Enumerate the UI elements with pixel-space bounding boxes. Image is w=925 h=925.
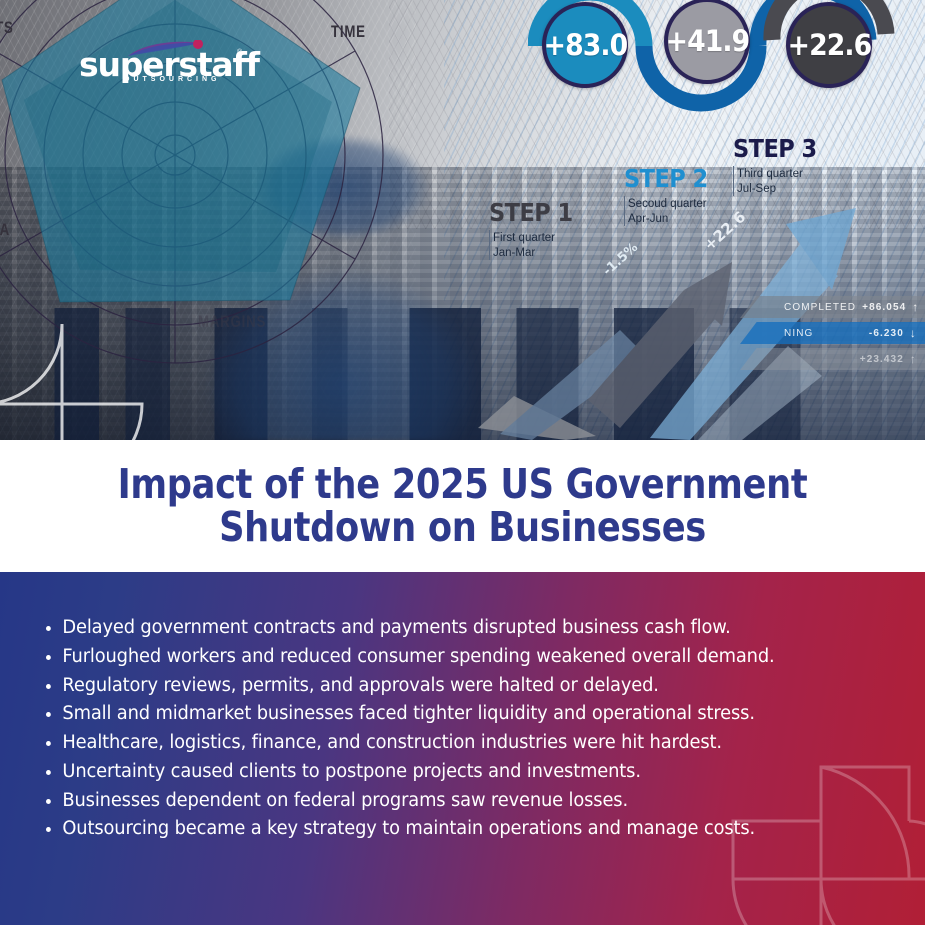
bullet-list: Delayed government contracts and payment… — [0, 572, 925, 843]
corner-arc-motif-icon — [0, 316, 172, 440]
list-item: Businesses dependent on federal programs… — [46, 787, 836, 815]
step-callout-3: STEP 3 Third quarter Jul-Sep — [733, 136, 826, 196]
bullet-band: Delayed government contracts and payment… — [0, 572, 925, 925]
hero-banner: BACKGROUND TIME MARGINS DATA COSTS super… — [0, 0, 925, 440]
bullet-dot-icon — [46, 770, 51, 775]
bullet-dot-icon — [46, 626, 51, 631]
kpi-value-3: +22.6 — [787, 28, 871, 62]
step-quarter-2: Secoud quarter — [628, 197, 717, 212]
list-item: Small and midmarket businesses faced tig… — [46, 700, 836, 728]
bullet-dot-icon — [46, 684, 51, 689]
step-subtitle-2: Secoud quarter Apr-Jun — [624, 196, 717, 226]
radar-axis-label-time: TIME — [331, 22, 366, 42]
step-callout-1: STEP 1 First quarter Jan-Mar — [489, 200, 582, 260]
infographic-poster: BACKGROUND TIME MARGINS DATA COSTS super… — [0, 0, 925, 925]
data-row-label-2: NING — [784, 328, 863, 339]
arrow-up-icon: ↑ — [910, 352, 917, 366]
list-item: Outsourcing became a key strategy to mai… — [46, 815, 836, 843]
kpi-circles-group: +83.0 +41.9 +22.6 — [528, 0, 925, 114]
data-row: NING -6.230 ↓ — [740, 322, 925, 344]
kpi-circle-1: +83.0 — [542, 2, 628, 88]
radar-axis-label-costs: COSTS — [0, 18, 14, 38]
step-months-2: Apr-Jun — [628, 212, 717, 227]
step-subtitle-3: Third quarter Jul-Sep — [733, 166, 826, 196]
bullet-dot-icon — [46, 741, 51, 746]
arrow-down-icon: ↓ — [910, 326, 917, 340]
bullet-text: Uncertainty caused clients to postpone p… — [62, 758, 836, 786]
logo-tagline: OUTSOURCING — [124, 76, 221, 83]
bullet-text: Delayed government contracts and payment… — [62, 614, 836, 642]
list-item: Healthcare, logistics, finance, and cons… — [46, 729, 836, 757]
list-item: Delayed government contracts and payment… — [46, 614, 836, 642]
list-item: Uncertainty caused clients to postpone p… — [46, 758, 836, 786]
kpi-circle-3: +22.6 — [786, 2, 872, 88]
bullet-dot-icon — [46, 799, 51, 804]
list-item: Regulatory reviews, permits, and approva… — [46, 672, 836, 700]
data-row-value-1: +86.054 — [862, 302, 906, 313]
data-row: +23.432 ↑ — [740, 348, 925, 370]
step-title-2: STEP 2 — [624, 166, 708, 191]
data-row-value-2: -6.230 — [869, 328, 904, 339]
data-row-label-1: COMPLETED — [784, 302, 856, 313]
bullet-text: Healthcare, logistics, finance, and cons… — [62, 729, 836, 757]
data-row: COMPLETED +86.054 ↑ — [740, 296, 925, 318]
kpi-value-2: +41.9 — [665, 24, 749, 58]
step-months-1: Jan-Mar — [493, 246, 582, 261]
bullet-text: Regulatory reviews, permits, and approva… — [62, 672, 836, 700]
radar-axis-label-data: DATA — [0, 220, 10, 240]
step-quarter-1: First quarter — [493, 231, 582, 246]
list-item: Furloughed workers and reduced consumer … — [46, 643, 836, 671]
step-title-1: STEP 1 — [489, 200, 573, 225]
bullet-dot-icon — [46, 655, 51, 660]
data-row-value-3: +23.432 — [860, 354, 904, 365]
arrow-up-icon: ↑ — [912, 300, 919, 314]
bullet-text: Furloughed workers and reduced consumer … — [62, 643, 836, 671]
superstaff-logo: superstaff ® OUTSOURCING — [79, 40, 247, 86]
logo-registered-mark: ® — [237, 49, 242, 56]
bullet-dot-icon — [46, 827, 51, 832]
page-title: Impact of the 2025 US Government Shutdow… — [65, 463, 861, 550]
bullet-text: Businesses dependent on federal programs… — [62, 787, 836, 815]
step-title-3: STEP 3 — [733, 136, 817, 161]
step-months-3: Jul-Sep — [737, 182, 826, 197]
kpi-value-1: +83.0 — [543, 28, 627, 62]
radar-axis-label-margins: MARGINS — [198, 312, 266, 332]
title-band: Impact of the 2025 US Government Shutdow… — [0, 440, 925, 572]
bullet-text: Outsourcing became a key strategy to mai… — [62, 815, 836, 843]
step-quarter-3: Third quarter — [737, 167, 826, 182]
kpi-circle-2: +41.9 — [664, 0, 750, 84]
step-subtitle-1: First quarter Jan-Mar — [489, 230, 582, 260]
step-callout-2: STEP 2 Secoud quarter Apr-Jun — [624, 166, 717, 226]
data-rows-panel: COMPLETED +86.054 ↑ NING -6.230 ↓ +23.43… — [740, 296, 925, 374]
bullet-dot-icon — [46, 712, 51, 717]
bullet-text: Small and midmarket businesses faced tig… — [62, 700, 836, 728]
